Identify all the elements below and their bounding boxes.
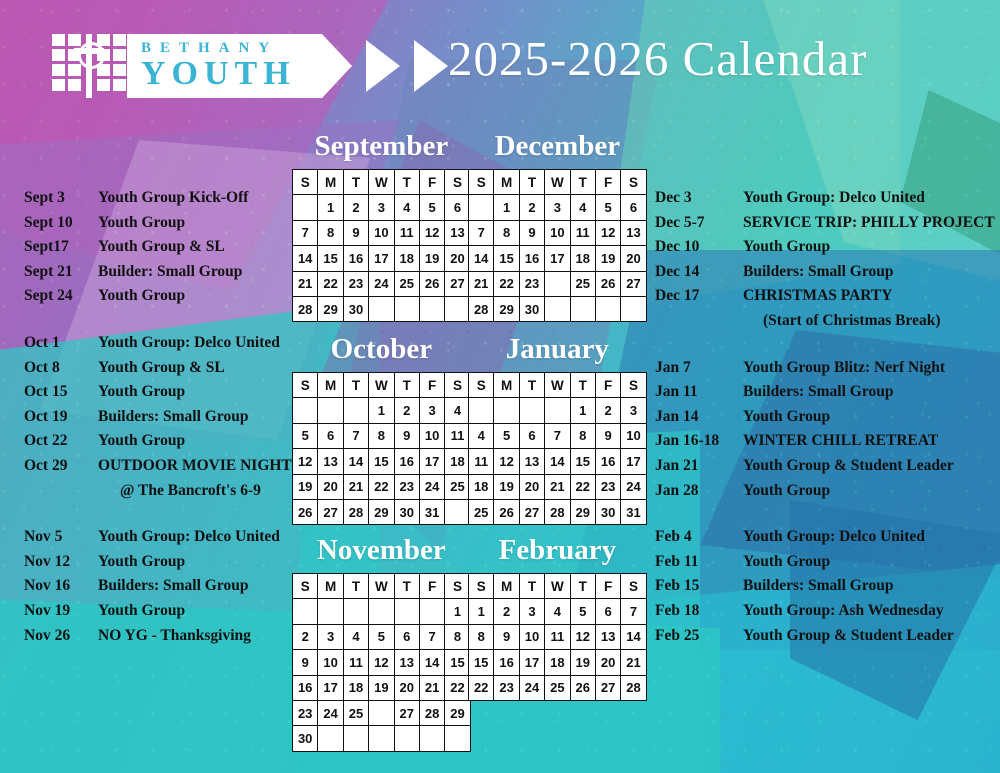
calendar-day-cell[interactable]: 23 (394, 474, 419, 499)
calendar-day-cell[interactable]: 21 (545, 474, 570, 499)
calendar-day-cell[interactable]: 16 (494, 650, 519, 675)
weekday-header: S (445, 574, 470, 599)
event-date: Nov 12 (24, 550, 98, 575)
calendar-day-cell[interactable]: 19 (494, 474, 519, 499)
calendar-day-cell[interactable]: 2 (595, 398, 620, 423)
calendar-day-cell[interactable]: 4 (394, 195, 419, 220)
event-description: Youth Group Kick-Off (98, 186, 324, 211)
weekday-header: F (595, 373, 620, 398)
calendar-day-cell[interactable]: 7 (469, 220, 494, 245)
calendar-day-cell[interactable]: 9 (494, 624, 519, 649)
calendar-day-cell[interactable]: 11 (343, 650, 368, 675)
calendar-day-cell[interactable]: 5 (369, 624, 394, 649)
calendar-day-cell[interactable]: 6 (519, 423, 544, 448)
calendar-empty-cell (419, 726, 444, 751)
calendar-day-cell[interactable]: 16 (293, 675, 318, 700)
calendar-day-cell[interactable]: 25 (394, 271, 419, 296)
weekday-header: T (394, 373, 419, 398)
calendar-day-cell[interactable]: 18 (445, 449, 470, 474)
calendar-day-cell[interactable]: 17 (318, 675, 343, 700)
calendar-day-cell[interactable]: 4 (469, 423, 494, 448)
calendar-day-cell[interactable]: 9 (394, 423, 419, 448)
calendar-day-cell[interactable]: 6 (318, 423, 343, 448)
calendar-day-cell[interactable]: 11 (545, 624, 570, 649)
calendar-day-cell[interactable]: 12 (419, 220, 444, 245)
event-row: Dec 10Youth Group (655, 235, 1000, 260)
event-date: Nov 16 (24, 574, 98, 599)
event-description: Youth Group Blitz: Nerf Night (743, 356, 1000, 381)
calendar-day-cell[interactable]: 13 (445, 220, 470, 245)
calendar-day-cell[interactable]: 29 (369, 499, 394, 524)
calendar-day-cell[interactable]: 5 (494, 423, 519, 448)
calendar-week-row: 2345678 (293, 624, 471, 649)
calendar-day-cell[interactable]: 25 (545, 675, 570, 700)
calendar-week-row: 262728293031 (293, 499, 471, 524)
event-description: Youth Group: Delco United (743, 525, 1000, 550)
calendar-day-cell[interactable] (369, 700, 394, 725)
calendar-day-cell[interactable]: 20 (394, 675, 419, 700)
logo-youth-text: YOUTH (141, 57, 296, 91)
event-row: Feb 15Builders: Small Group (655, 574, 1000, 599)
calendar-day-cell[interactable]: 22 (570, 474, 595, 499)
event-row: (Start of Christmas Break) (655, 309, 1000, 334)
calendar-week-row: 19202122232425 (293, 474, 471, 499)
calendar-grid: SMTWTFS 12345678910111213141516171819202… (468, 169, 647, 322)
weekday-header: S (469, 373, 494, 398)
calendar-day-cell[interactable]: 11 (469, 449, 494, 474)
calendar-empty-cell (343, 398, 368, 423)
calendar-day-cell[interactable]: 22 (494, 271, 519, 296)
event-row: Oct 8Youth Group & SL (24, 356, 324, 381)
weekday-header: M (318, 574, 343, 599)
weekday-header: T (343, 373, 368, 398)
event-row: Nov 5Youth Group: Delco United (24, 525, 324, 550)
calendar-day-cell[interactable]: 2 (519, 195, 544, 220)
event-date: Feb 18 (655, 599, 743, 624)
event-description: Youth Group (98, 429, 324, 454)
calendar-day-cell[interactable]: 29 (494, 296, 519, 321)
calendar-empty-cell (570, 296, 595, 321)
calendar-week-row: 21222324252627 (293, 271, 471, 296)
weekday-header: T (519, 373, 544, 398)
events-group-separator (24, 503, 324, 525)
calendar-day-cell[interactable]: 28 (469, 296, 494, 321)
calendar-day-cell[interactable]: 15 (369, 449, 394, 474)
calendar-day-cell[interactable]: 9 (519, 220, 544, 245)
calendar-day-cell[interactable]: 4 (343, 624, 368, 649)
calendar-day-cell[interactable]: 17 (419, 449, 444, 474)
event-date: Oct 15 (24, 380, 98, 405)
calendar-week-row: 11121314151617 (469, 449, 647, 474)
calendar-day-cell[interactable]: 24 (318, 700, 343, 725)
calendar-day-cell[interactable]: 12 (595, 220, 620, 245)
event-row: Jan 7Youth Group Blitz: Nerf Night (655, 356, 1000, 381)
calendar-day-cell[interactable]: 16 (595, 449, 620, 474)
event-description: Youth Group (743, 235, 1000, 260)
event-date: Jan 16-18 (655, 429, 743, 454)
calendar-day-cell[interactable]: 18 (545, 650, 570, 675)
calendar-day-cell[interactable]: 10 (318, 650, 343, 675)
calendar-grid: SMTWTFS 12345678910111213141516171819202… (292, 169, 471, 322)
weekday-header: M (494, 574, 519, 599)
calendar-day-cell[interactable]: 3 (369, 195, 394, 220)
calendar-empty-cell (369, 296, 394, 321)
calendar-day-cell[interactable]: 14 (419, 650, 444, 675)
calendar-day-cell[interactable]: 8 (318, 220, 343, 245)
calendar-day-cell[interactable]: 26 (570, 675, 595, 700)
calendar-day-cell[interactable]: 21 (343, 474, 368, 499)
calendar-day-cell[interactable]: 1 (570, 398, 595, 423)
calendar-day-cell[interactable]: 13 (318, 449, 343, 474)
calendar-day-cell[interactable]: 7 (545, 423, 570, 448)
calendar-day-cell[interactable]: 7 (621, 599, 646, 624)
calendar-empty-cell (293, 398, 318, 423)
event-row: Oct 29OUTDOOR MOVIE NIGHT (24, 454, 324, 479)
calendar-day-cell[interactable]: 16 (519, 246, 544, 271)
calendar-day-cell[interactable]: 14 (545, 449, 570, 474)
event-row: Sept17Youth Group & SL (24, 235, 324, 260)
calendar-day-cell[interactable]: 4 (570, 195, 595, 220)
calendar-day-cell[interactable]: 14 (343, 449, 368, 474)
weekday-header: S (445, 170, 470, 195)
calendar-day-cell[interactable]: 31 (419, 499, 444, 524)
calendar-week-row: 16171819202122 (293, 675, 471, 700)
calendar-day-cell[interactable]: 21 (621, 650, 646, 675)
calendar-day-cell[interactable]: 9 (343, 220, 368, 245)
calendar-empty-cell (445, 726, 470, 751)
calendar-day-cell[interactable]: 14 (293, 246, 318, 271)
calendar-day-cell[interactable]: 1 (469, 599, 494, 624)
calendar-day-cell[interactable]: 16 (343, 246, 368, 271)
calendar-day-cell[interactable]: 23 (595, 474, 620, 499)
month-title: January (468, 335, 647, 364)
calendar-day-cell[interactable]: 15 (494, 246, 519, 271)
calendar-day-cell[interactable]: 27 (621, 271, 646, 296)
calendar-day-cell[interactable]: 22 (369, 474, 394, 499)
event-date: Feb 25 (655, 624, 743, 649)
weekday-header: M (494, 170, 519, 195)
event-row: Nov 16Builders: Small Group (24, 574, 324, 599)
calendar-day-cell[interactable]: 25 (445, 474, 470, 499)
calendar-day-cell[interactable]: 24 (419, 474, 444, 499)
calendar-day-cell[interactable]: 30 (343, 296, 368, 321)
calendar-week-row: 123 (469, 398, 647, 423)
calendar-day-cell[interactable]: 9 (595, 423, 620, 448)
event-description: (Start of Christmas Break) (763, 309, 1000, 334)
calendar-day-cell[interactable]: 29 (445, 700, 470, 725)
calendar-day-cell[interactable]: 20 (318, 474, 343, 499)
calendar-day-cell[interactable]: 13 (595, 624, 620, 649)
event-date: Sept 3 (24, 186, 98, 211)
weekday-header: W (545, 574, 570, 599)
calendar-day-cell[interactable]: 19 (419, 246, 444, 271)
event-description: CHRISTMAS PARTY (743, 284, 1000, 309)
calendar-day-cell[interactable]: 21 (469, 271, 494, 296)
calendar-day-cell[interactable]: 18 (394, 246, 419, 271)
calendar-day-cell[interactable]: 10 (621, 423, 646, 448)
weekday-header: F (595, 170, 620, 195)
month-title: September (292, 132, 471, 161)
calendar-day-cell[interactable]: 23 (343, 271, 368, 296)
calendar-grid: SMTWTFS 12345678910111213141516171819202… (292, 573, 471, 752)
calendar-day-cell[interactable]: 23 (293, 700, 318, 725)
calendar-day-cell[interactable]: 4 (445, 398, 470, 423)
calendar-week-row: 12131415161718 (293, 449, 471, 474)
weekday-header: W (369, 170, 394, 195)
event-row: Sept 10Youth Group (24, 211, 324, 236)
calendar-day-cell[interactable]: 30 (293, 726, 318, 751)
event-description: WINTER CHILL RETREAT (743, 429, 1000, 454)
calendar-day-cell[interactable]: 28 (293, 296, 318, 321)
month-title: October (292, 335, 471, 364)
events-group-separator (655, 334, 1000, 356)
calendar-day-cell[interactable]: 20 (595, 650, 620, 675)
calendar-day-cell[interactable]: 6 (394, 624, 419, 649)
calendar-day-cell[interactable]: 14 (621, 624, 646, 649)
calendar-day-cell[interactable]: 10 (545, 220, 570, 245)
calendar-day-cell[interactable]: 23 (494, 675, 519, 700)
event-date: Nov 5 (24, 525, 98, 550)
calendar-day-cell[interactable]: 12 (570, 624, 595, 649)
calendar-day-cell[interactable]: 12 (494, 449, 519, 474)
event-row: Dec 5-7SERVICE TRIP: PHILLY PROJECT (655, 211, 1000, 236)
calendar-day-cell[interactable]: 8 (369, 423, 394, 448)
calendar-week-row: 78910111213 (469, 220, 647, 245)
calendar-day-cell[interactable]: 13 (621, 220, 646, 245)
calendar-day-cell[interactable]: 21 (419, 675, 444, 700)
calendar-day-cell[interactable]: 24 (621, 474, 646, 499)
calendar-day-cell[interactable]: 15 (318, 246, 343, 271)
event-row: Oct 1Youth Group: Delco United (24, 331, 324, 356)
calendar-day-cell[interactable]: 30 (519, 296, 544, 321)
calendar-day-cell[interactable]: 27 (519, 499, 544, 524)
calendar-week-row: 282930 (469, 296, 647, 321)
event-date: Oct 29 (24, 454, 98, 479)
page-header: BETHANY YOUTH 2025-2026 Calendar (0, 0, 1000, 120)
calendar-day-cell[interactable]: 2 (343, 195, 368, 220)
calendar-empty-cell (369, 599, 394, 624)
weekday-header-row: SMTWTFS (469, 170, 647, 195)
calendar-week-row: 232425 272829 (293, 700, 471, 725)
calendar-day-cell[interactable]: 24 (369, 271, 394, 296)
calendar-day-cell[interactable]: 29 (570, 499, 595, 524)
calendar-day-cell[interactable]: 20 (445, 246, 470, 271)
calendar-day-cell[interactable]: 27 (595, 675, 620, 700)
calendar-day-cell[interactable]: 15 (570, 449, 595, 474)
calendar-day-cell[interactable]: 7 (293, 220, 318, 245)
calendar-week-row: 45678910 (469, 423, 647, 448)
calendar-day-cell[interactable]: 28 (419, 700, 444, 725)
chevron-icon-3 (414, 40, 448, 92)
calendar-empty-cell (545, 398, 570, 423)
event-row: Sept 3Youth Group Kick-Off (24, 186, 324, 211)
calendar-day-cell[interactable]: 12 (293, 449, 318, 474)
calendar-day-cell[interactable]: 25 (570, 271, 595, 296)
calendar-day-cell[interactable] (545, 296, 570, 321)
calendar-day-cell[interactable]: 19 (595, 246, 620, 271)
calendar-day-cell[interactable]: 8 (469, 624, 494, 649)
weekday-header: S (293, 574, 318, 599)
weekday-header: M (318, 373, 343, 398)
event-row: Dec 3Youth Group: Delco United (655, 186, 1000, 211)
weekday-header: W (369, 574, 394, 599)
calendar-day-cell[interactable]: 28 (621, 675, 646, 700)
calendar-day-cell[interactable]: 5 (419, 195, 444, 220)
calendar-day-cell[interactable]: 16 (394, 449, 419, 474)
calendar-day-cell[interactable]: 18 (343, 675, 368, 700)
calendar-day-cell[interactable]: 26 (494, 499, 519, 524)
calendar-empty-cell (318, 726, 343, 751)
calendar-day-cell[interactable]: 11 (394, 220, 419, 245)
calendar-empty-cell (318, 599, 343, 624)
calendar-day-cell[interactable]: 3 (519, 599, 544, 624)
calendar-week-row: 15161718192021 (469, 650, 647, 675)
event-row: Dec 17CHRISTMAS PARTY (655, 284, 1000, 309)
calendar-day-cell[interactable]: 30 (394, 499, 419, 524)
calendar-day-cell[interactable]: 19 (369, 675, 394, 700)
calendar-day-cell[interactable]: 12 (369, 650, 394, 675)
calendar-day-cell[interactable]: 1 (445, 599, 470, 624)
calendar-day-cell[interactable]: 9 (293, 650, 318, 675)
calendar-day-cell[interactable]: 6 (595, 599, 620, 624)
calendar-day-cell[interactable]: 15 (469, 650, 494, 675)
calendar-day-cell[interactable]: 8 (570, 423, 595, 448)
calendar-week-row: 14151617181920 (469, 246, 647, 271)
calendar-empty-cell (343, 599, 368, 624)
calendar-day-cell[interactable]: 13 (394, 650, 419, 675)
calendar-day-cell[interactable]: 3 (318, 624, 343, 649)
calendar-day-cell[interactable]: 6 (445, 195, 470, 220)
calendar-day-cell[interactable]: 11 (445, 423, 470, 448)
calendar-grid: SMTWTFS123456789101112131415161718192021… (468, 573, 647, 701)
event-date: Sept17 (24, 235, 98, 260)
calendar-day-cell[interactable]: 5 (595, 195, 620, 220)
calendar-day-cell[interactable]: 4 (545, 599, 570, 624)
calendar-day-cell[interactable]: 27 (394, 700, 419, 725)
calendar-day-cell[interactable]: 26 (595, 271, 620, 296)
event-description: Youth Group & SL (98, 356, 324, 381)
calendar-day-cell[interactable]: 23 (519, 271, 544, 296)
calendar-day-cell[interactable]: 19 (293, 474, 318, 499)
calendar-day-cell[interactable] (545, 271, 570, 296)
calendar-week-row: 14151617181920 (293, 246, 471, 271)
calendar-day-cell[interactable]: 20 (621, 246, 646, 271)
events-group-separator (655, 503, 1000, 525)
calendar-day-cell[interactable]: 2 (394, 398, 419, 423)
calendar-day-cell[interactable]: 24 (519, 675, 544, 700)
calendar-day-cell[interactable]: 17 (621, 449, 646, 474)
calendar-day-cell[interactable]: 3 (419, 398, 444, 423)
month-block-december: DecemberSMTWTFS 123456789101112131415161… (468, 132, 647, 322)
bethany-cross-logo-icon (52, 34, 127, 98)
chevron-icon-2 (366, 40, 400, 92)
calendar-day-cell[interactable]: 13 (519, 449, 544, 474)
calendar-day-cell[interactable]: 10 (369, 220, 394, 245)
calendar-day-cell[interactable]: 18 (469, 474, 494, 499)
event-date: Sept 21 (24, 260, 98, 285)
calendar-day-cell[interactable]: 18 (570, 246, 595, 271)
calendar-day-cell[interactable]: 5 (293, 423, 318, 448)
calendar-day-cell[interactable]: 25 (343, 700, 368, 725)
calendar-day-cell[interactable]: 3 (545, 195, 570, 220)
calendar-day-cell[interactable]: 28 (343, 499, 368, 524)
calendar-empty-cell (445, 296, 470, 321)
event-date: Jan 7 (655, 356, 743, 381)
calendar-day-cell[interactable]: 8 (494, 220, 519, 245)
event-description: Youth Group (743, 479, 1000, 504)
calendar-day-cell[interactable]: 27 (445, 271, 470, 296)
calendar-day-cell[interactable]: 2 (494, 599, 519, 624)
month-title: November (292, 536, 471, 565)
calendar-day-cell[interactable]: 31 (621, 499, 646, 524)
calendar-day-cell[interactable]: 10 (419, 423, 444, 448)
event-row: Oct 15Youth Group (24, 380, 324, 405)
calendar-day-cell[interactable]: 5 (570, 599, 595, 624)
calendar-day-cell[interactable]: 17 (519, 650, 544, 675)
calendar-day-cell[interactable]: 22 (469, 675, 494, 700)
weekday-header: T (343, 574, 368, 599)
calendar-day-cell[interactable]: 17 (369, 246, 394, 271)
calendar-day-cell[interactable]: 26 (419, 271, 444, 296)
calendar-day-cell[interactable]: 11 (570, 220, 595, 245)
calendar-day-cell[interactable]: 1 (494, 195, 519, 220)
calendar-day-cell[interactable]: 17 (545, 246, 570, 271)
month-title: February (468, 536, 647, 565)
calendar-day-cell[interactable]: 2 (293, 624, 318, 649)
calendar-day-cell[interactable]: 26 (293, 499, 318, 524)
weekday-header: W (369, 373, 394, 398)
calendar-day-cell[interactable]: 27 (318, 499, 343, 524)
calendar-day-cell[interactable]: 20 (519, 474, 544, 499)
event-description: Builders: Small Group (743, 260, 1000, 285)
event-description: Youth Group & Student Leader (743, 624, 1000, 649)
calendar-day-cell[interactable]: 22 (318, 271, 343, 296)
event-description: Builders: Small Group (98, 574, 324, 599)
calendar-empty-cell (394, 599, 419, 624)
event-row: Feb 11Youth Group (655, 550, 1000, 575)
calendar-day-cell[interactable]: 7 (343, 423, 368, 448)
calendar-empty-cell (445, 499, 470, 524)
calendar-day-cell[interactable]: 19 (570, 650, 595, 675)
calendar-day-cell[interactable]: 29 (318, 296, 343, 321)
calendar-day-cell[interactable]: 15 (445, 650, 470, 675)
calendar-day-cell[interactable]: 3 (621, 398, 646, 423)
logo-text-plate: BETHANY YOUTH (127, 34, 322, 98)
event-description: Builders: Small Group (743, 574, 1000, 599)
calendar-day-cell[interactable]: 22 (445, 675, 470, 700)
calendar-day-cell[interactable]: 30 (595, 499, 620, 524)
calendar-day-cell[interactable]: 1 (318, 195, 343, 220)
calendar-day-cell[interactable]: 1 (369, 398, 394, 423)
events-group-separator (24, 309, 324, 331)
event-description: Youth Group & Student Leader (743, 454, 1000, 479)
calendar-day-cell[interactable]: 10 (519, 624, 544, 649)
calendar-day-cell[interactable]: 7 (419, 624, 444, 649)
calendar-day-cell[interactable]: 25 (469, 499, 494, 524)
calendar-day-cell[interactable]: 6 (621, 195, 646, 220)
calendar-week-row: 22232425262728 (469, 675, 647, 700)
weekday-header: T (570, 170, 595, 195)
calendar-empty-cell (519, 398, 544, 423)
calendar-week-row: 123456 (469, 195, 647, 220)
weekday-header-row: SMTWTFS (293, 170, 471, 195)
calendar-day-cell[interactable]: 28 (545, 499, 570, 524)
calendar-day-cell[interactable]: 14 (469, 246, 494, 271)
event-date: Sept 24 (24, 284, 98, 309)
calendar-day-cell[interactable]: 21 (293, 271, 318, 296)
calendar-day-cell[interactable]: 8 (445, 624, 470, 649)
calendar-empty-cell (469, 398, 494, 423)
